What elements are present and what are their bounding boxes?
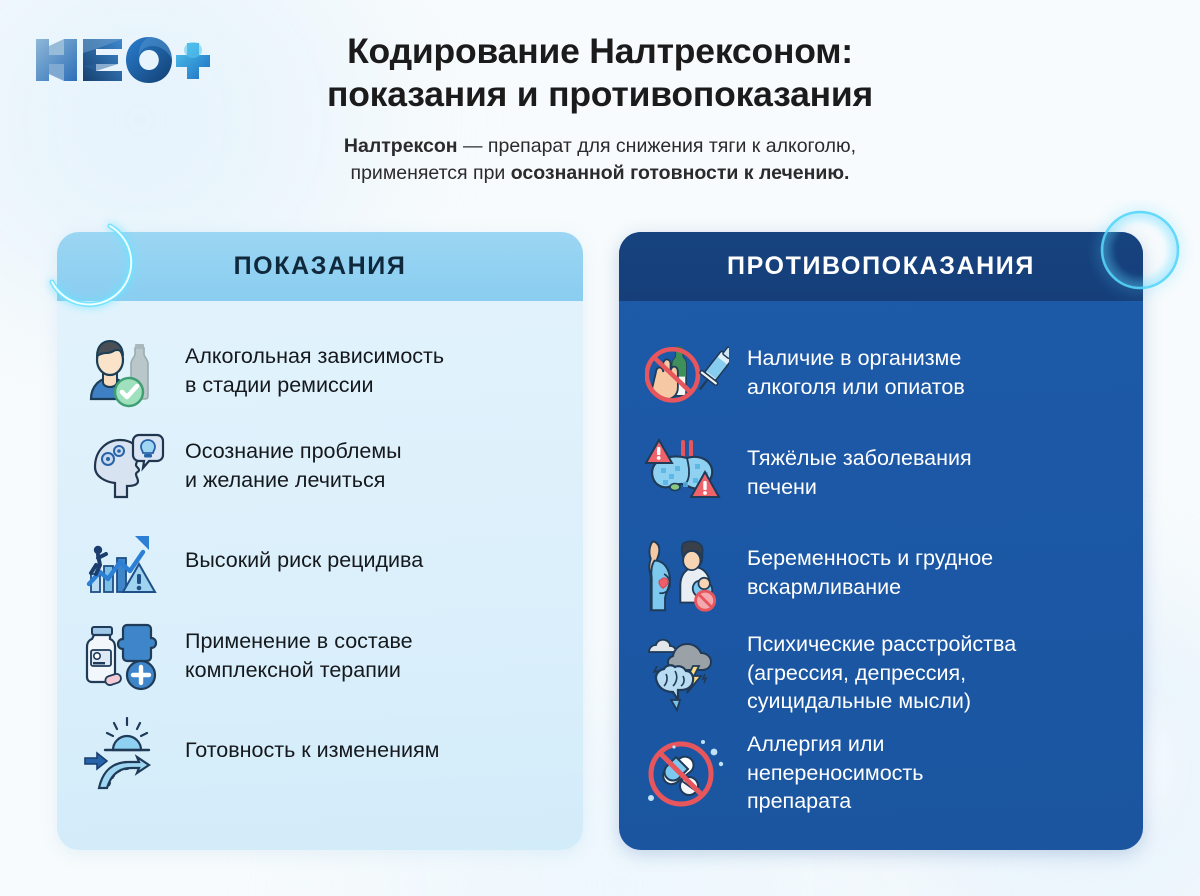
list-item-line-2: алкоголя или опиатов (747, 375, 965, 399)
person-bottle-check-icon (83, 332, 167, 410)
no-alcohol-hand-syringe-icon (645, 334, 729, 412)
list-item: Высокий риск рецидива (83, 513, 557, 608)
list-item-text: Применение в составе комплексной терапии (185, 627, 413, 684)
list-item-text: Готовность к изменениям (185, 736, 439, 765)
list-item-line-1: Готовность к изменениям (185, 738, 439, 762)
list-item-line-2: непереносимость (747, 761, 923, 785)
liver-warning-icon (645, 434, 729, 512)
card-indications-body: Алкогольная зависимость в стадии ремисси… (57, 301, 583, 808)
list-item-line-1: Психические расстройства (747, 632, 1016, 656)
list-item-line-3: суицидальные мысли) (747, 689, 971, 713)
list-item-text: Осознание проблемы и желание лечиться (185, 437, 402, 494)
list-item-line-1: Высокий риск рецидива (185, 548, 423, 572)
list-item-line-1: Беременность и грудное (747, 546, 993, 570)
list-item: Беременность и грудное вскармливание (645, 523, 1117, 623)
list-item-text: Аллергия или непереносимость препарата (747, 730, 923, 816)
list-item-text: Психические расстройства (агрессия, депр… (747, 630, 1016, 716)
list-item: Наличие в организме алкоголя или опиатов (645, 323, 1117, 423)
list-item-text: Наличие в организме алкоголя или опиатов (747, 344, 965, 401)
card-contraindications-title: ПРОТИВОПОКАЗАНИЯ (727, 252, 1035, 281)
card-contraindications-header: ПРОТИВОПОКАЗАНИЯ (619, 232, 1143, 301)
list-item: Применение в составе комплексной терапии (83, 608, 557, 703)
list-item-line-2: печени (747, 475, 817, 499)
list-item-line-1: Алкогольная зависимость (185, 344, 444, 368)
cards-container: ПОКАЗАНИЯ (0, 0, 1200, 896)
list-item-line-1: Осознание проблемы (185, 439, 402, 463)
card-indications-header: ПОКАЗАНИЯ (57, 232, 583, 301)
list-item-text: Алкогольная зависимость в стадии ремисси… (185, 342, 444, 399)
list-item-text: Тяжёлые заболевания печени (747, 444, 972, 501)
list-item: Тяжёлые заболевания печени (645, 423, 1117, 523)
card-contraindications-body: Наличие в организме алкоголя или опиатов (619, 301, 1143, 833)
pregnancy-breastfeeding-icon (645, 534, 729, 612)
list-item-text: Высокий риск рецидива (185, 546, 423, 575)
list-item: Алкогольная зависимость в стадии ремисси… (83, 323, 557, 418)
list-item-line-2: и желание лечиться (185, 468, 385, 492)
head-gears-lightbulb-icon (83, 427, 167, 505)
list-item-text: Беременность и грудное вскармливание (747, 544, 993, 601)
list-item: Готовность к изменениям (83, 703, 557, 798)
list-item-line-2: (агрессия, депрессия, (747, 661, 966, 685)
sunrise-road-arrow-icon (83, 712, 167, 790)
list-item: Психические расстройства (агрессия, депр… (645, 623, 1117, 723)
list-item: Аллергия или непереносимость препарата (645, 723, 1117, 823)
list-item-line-1: Применение в составе (185, 629, 413, 653)
brain-storm-cloud-icon (645, 634, 729, 712)
card-indications-title: ПОКАЗАНИЯ (234, 252, 407, 281)
list-item-line-2: комплексной терапии (185, 658, 401, 682)
pill-bottle-puzzle-plus-icon (83, 617, 167, 695)
list-item-line-3: препарата (747, 789, 851, 813)
list-item-line-1: Аллергия или (747, 732, 884, 756)
list-item-line-2: в стадии ремиссии (185, 373, 373, 397)
list-item-line-2: вскармливание (747, 575, 901, 599)
card-indications: ПОКАЗАНИЯ (57, 232, 583, 850)
list-item-line-1: Наличие в организме (747, 346, 961, 370)
card-contraindications: ПРОТИВОПОКАЗАНИЯ (619, 232, 1143, 850)
list-item: Осознание проблемы и желание лечиться (83, 418, 557, 513)
list-item-line-1: Тяжёлые заболевания (747, 446, 972, 470)
no-pills-allergy-icon (645, 734, 729, 812)
rising-chart-warning-icon (83, 522, 167, 600)
